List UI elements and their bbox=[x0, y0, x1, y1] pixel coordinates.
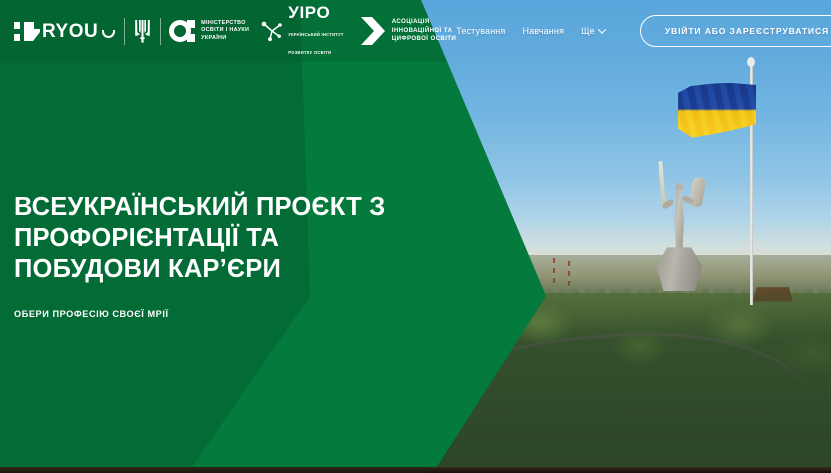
landing-page: RYOU bbox=[0, 0, 831, 473]
ryou-r-glyph bbox=[24, 22, 40, 41]
ryou-smile-icon bbox=[102, 30, 115, 38]
association-label: АСОЦІАЦІЯ ІННОВАЦІЙНОЇ ТА ЦИФРОВОЇ ОСВІТ… bbox=[392, 18, 456, 43]
ministry-mark-icon bbox=[169, 19, 195, 43]
ministry-label: МІНІСТЕРСТВО ОСВІТИ І НАУКИ УКРАЇНИ bbox=[201, 20, 249, 42]
statue-sword bbox=[659, 161, 666, 207]
chevron-down-icon bbox=[598, 25, 606, 33]
bottom-edge-strip bbox=[0, 467, 831, 473]
ministry-line-3: УКРАЇНИ bbox=[201, 35, 226, 41]
nav-item-more[interactable]: Ще bbox=[581, 26, 605, 36]
nav-item-learning[interactable]: Навчання bbox=[522, 26, 564, 36]
page-title: ВСЕУКРАЇНСЬКИЙ ПРОЄКТ З ПРОФОРІЄНТАЦІЇ Т… bbox=[14, 192, 414, 285]
nav-item-testing[interactable]: Тестування bbox=[456, 26, 505, 36]
ministry-of-education-logo[interactable]: МІНІСТЕРСТВО ОСВІТИ І НАУКИ УКРАЇНИ bbox=[169, 19, 249, 43]
ukraine-trident-icon bbox=[134, 19, 151, 44]
hero-title-line-1: ВСЕУКРАЇНСЬКИЙ ПРОЄКТ З bbox=[14, 193, 385, 221]
association-line-3: ЦИФРОВОЇ ОСВІТИ bbox=[392, 35, 456, 42]
ryou-bars-icon bbox=[14, 22, 20, 41]
hero-title-line-2: ПРОФОРІЄНТАЦІЇ ТА ПОБУДОВИ КАР’ЄРИ bbox=[14, 223, 414, 285]
association-logo[interactable]: АСОЦІАЦІЯ ІННОВАЦІЙНОЇ ТА ЦИФРОВОЇ ОСВІТ… bbox=[361, 17, 456, 45]
main-navigation: Тестування Навчання Ще УВІЙТИ АБО ЗАРЕЄС… bbox=[456, 15, 831, 47]
association-line-2: ІННОВАЦІЙНОЇ ТА bbox=[392, 27, 453, 34]
bottom-edge-left bbox=[0, 467, 430, 473]
ministry-line-2: ОСВІТИ І НАУКИ bbox=[201, 27, 249, 33]
statue-pedestal bbox=[656, 247, 702, 291]
ryou-wordmark: RYOU bbox=[42, 22, 98, 41]
uiro-logo[interactable]: УІРО УКРАЇНСЬКИЙ ІНСТИТУТ РОЗВИТКУ ОСВІТ… bbox=[261, 4, 344, 59]
hero-copy: ВСЕУКРАЇНСЬКИЙ ПРОЄКТ З ПРОФОРІЄНТАЦІЇ Т… bbox=[14, 192, 414, 321]
uiro-label: УІРО УКРАЇНСЬКИЙ ІНСТИТУТ РОЗВИТКУ ОСВІТ… bbox=[288, 4, 344, 59]
uiro-wordmark: УІРО bbox=[288, 3, 330, 22]
ukrainian-flag-icon bbox=[678, 83, 756, 139]
association-arrow-icon bbox=[361, 17, 385, 45]
site-header: RYOU bbox=[0, 0, 831, 62]
nav-item-more-label: Ще bbox=[581, 26, 595, 36]
brand-logos: RYOU bbox=[14, 4, 456, 59]
uiro-sub-1: УКРАЇНСЬКИЙ ІНСТИТУТ bbox=[288, 32, 343, 37]
uiro-sub-2: РОЗВИТКУ ОСВІТИ bbox=[288, 50, 331, 55]
association-line-1: АСОЦІАЦІЯ bbox=[392, 18, 430, 25]
hero-subtitle: ОБЕРИ ПРОФЕСІЮ СВОЄЇ МРІЇ bbox=[14, 308, 414, 321]
uiro-mark-icon bbox=[261, 20, 283, 42]
login-or-register-button[interactable]: УВІЙТИ АБО ЗАРЕЄСТРУВАТИСЯ bbox=[640, 15, 831, 47]
motherland-monument-statue bbox=[648, 151, 710, 291]
ryou-logo[interactable]: RYOU bbox=[14, 18, 115, 44]
ministry-line-1: МІНІСТЕРСТВО bbox=[201, 20, 246, 26]
